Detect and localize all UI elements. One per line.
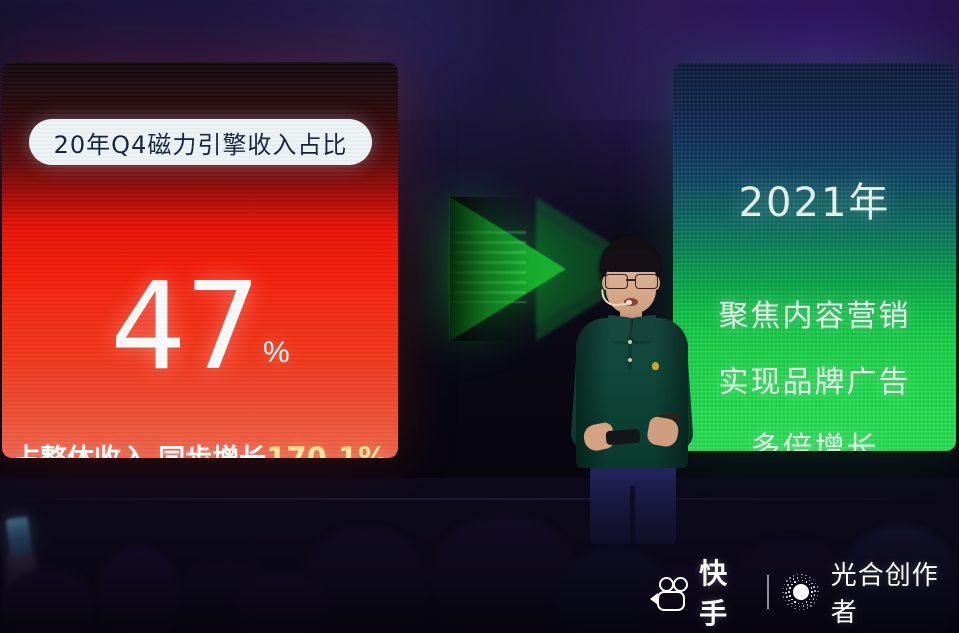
logo-bar: 快手 光合创作者 (650, 552, 959, 632)
sunburst-dot (809, 580, 811, 582)
sunburst-dot (806, 581, 808, 583)
left-panel-title-pill: 20年Q4磁力引擎收入占比 (29, 119, 372, 165)
left-panel-metric: 47% (2, 268, 398, 388)
sunburst-dot (807, 607, 808, 608)
sunburst-dot (809, 584, 811, 586)
right-panel-year-row: 2021年 (673, 170, 956, 228)
sunburst-dot (788, 591, 790, 593)
sunburst-dot (816, 599, 817, 600)
sunburst-dot (799, 606, 801, 608)
presenter-shirt-logo (652, 362, 659, 370)
sunburst-dot (803, 605, 805, 607)
sunburst-dot (789, 595, 791, 597)
sunburst-dot (814, 602, 815, 603)
sunburst-dot (789, 577, 790, 578)
metric-value: 47 (110, 258, 259, 397)
sunburst-dot (799, 609, 800, 610)
sunburst-dot (809, 599, 811, 601)
sunburst-dot (787, 604, 788, 605)
headset-mic-tip (626, 300, 632, 305)
sunburst-dot (807, 604, 809, 606)
guanghe-program-name: 光合创作者 (831, 555, 959, 629)
sunburst-core (793, 584, 809, 600)
sunburst-dot (795, 605, 797, 607)
metric-unit: % (263, 336, 290, 369)
sunburst-dot (815, 583, 816, 584)
sunburst-dot (797, 577, 799, 579)
presenter-button-bottom (628, 358, 632, 362)
sunburst-dot (810, 605, 811, 606)
sunburst-dot (798, 603, 800, 605)
sunburst-dot (814, 594, 816, 596)
sunburst-dot (786, 580, 787, 581)
glasses-bridge (626, 279, 635, 281)
sunburst-dot (811, 587, 813, 589)
sunburst-dot (817, 586, 818, 587)
sunburst-dot (791, 603, 793, 605)
presenter-glasses (604, 274, 658, 288)
kuaishou-circle-right (673, 577, 688, 592)
sunburst-dot (802, 603, 804, 605)
sunburst-dot (783, 596, 784, 597)
sunburst-dot (813, 586, 815, 588)
sunburst-dot (797, 574, 798, 575)
sunburst-dot (790, 581, 792, 583)
glasses-lens-right (635, 274, 658, 289)
footnote-prefix: 占整体收入,同步增长 (13, 444, 266, 458)
sunburst-dot (809, 577, 810, 578)
presenter-fringe (602, 250, 660, 272)
sunburst-dot (805, 575, 806, 576)
sunburst-dot (810, 602, 812, 604)
left-red-slide-panel: 20年Q4磁力引擎收入占比 47% 占整体收入,同步增长170.1% (2, 62, 398, 458)
sunburst-dot (785, 600, 786, 601)
kuaishou-circle-left (659, 577, 674, 592)
presenter-clicker (606, 429, 641, 445)
sunburst-dot (817, 595, 818, 596)
kuaishou-camera-icon (650, 577, 686, 607)
sunburst-dot (785, 592, 787, 594)
sunburst-dot (794, 601, 796, 603)
sunburst-dot (794, 581, 796, 583)
stage-photo: 20年Q4磁力引擎收入占比 47% 占整体收入,同步增长170.1% 2021年… (0, 0, 959, 633)
sunburst-dot (811, 591, 813, 593)
sunburst-dot (802, 580, 804, 582)
sunburst-dot (794, 608, 795, 609)
guanghe-sunburst-icon (782, 573, 818, 611)
left-panel-title: 20年Q4磁力引擎收入占比 (54, 125, 348, 160)
right-panel-year: 2021年 (739, 180, 891, 226)
sunburst-dot (805, 578, 807, 580)
sunburst-dot (801, 577, 803, 579)
sunburst-dot (786, 588, 788, 590)
sunburst-dot (803, 609, 804, 610)
sunburst-dot (813, 598, 815, 600)
sunburst-dot (791, 606, 792, 607)
logo-divider (767, 575, 768, 609)
sunburst-dot (793, 575, 794, 576)
footnote-highlight: 170.1% (266, 441, 387, 458)
sunburst-dot (782, 592, 783, 593)
sunburst-dot (786, 596, 788, 598)
sunburst-dot (811, 583, 813, 585)
kuaishou-body (657, 591, 685, 611)
sunburst-dot (798, 580, 800, 582)
sunburst-dot (791, 599, 793, 601)
sunburst-dot (793, 578, 795, 580)
sunburst-dot (801, 574, 802, 575)
sunburst-dot (789, 587, 791, 589)
presenter-button-top (628, 340, 632, 344)
kuaishou-brand-name: 快手 (699, 552, 754, 632)
sunburst-dot (814, 590, 816, 592)
sunburst-dot (791, 584, 793, 586)
sunburst-dot (787, 584, 789, 586)
sunburst-dot (784, 584, 785, 585)
sunburst-dot (783, 588, 784, 589)
left-panel-footnote: 占整体收入,同步增长170.1% (2, 437, 398, 458)
sunburst-dot (788, 600, 790, 602)
presenter-collar-right (630, 315, 656, 344)
sunburst-dot (806, 601, 808, 603)
kuaishou-lens-notch (650, 593, 658, 605)
sunburst-dot (817, 591, 818, 592)
sunburst-dot (811, 595, 813, 597)
sunburst-dot (813, 579, 814, 580)
